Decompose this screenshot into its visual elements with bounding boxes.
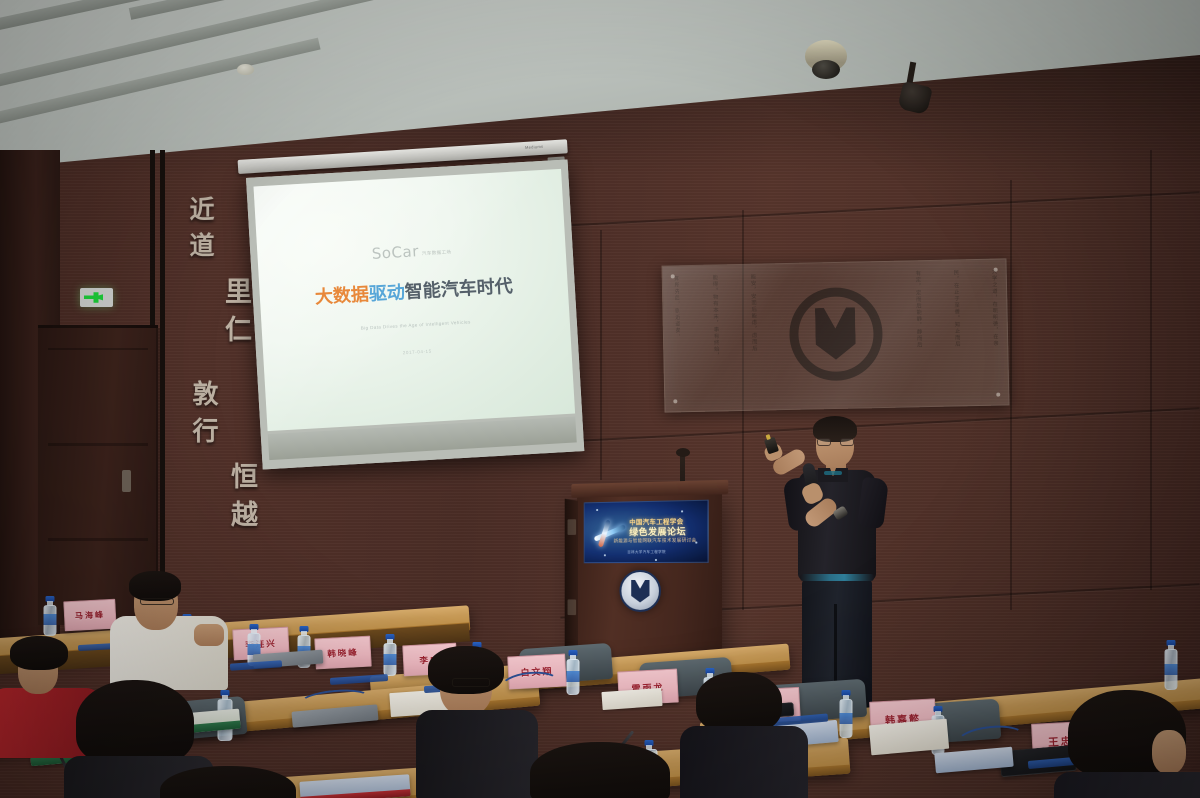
name-placard: 马海峰 [63,599,116,632]
running-man-exit-icon [84,291,109,304]
slide-subtitle: Big Data Drives the Age of Intelligent V… [361,319,471,330]
calligraphy-jindao: 近道 [188,196,213,268]
water-bottle[interactable] [383,634,396,676]
plaque-glass-reflection [663,259,1009,411]
attendee-mid-right [690,672,800,798]
slide-date: 2017-04-15 [403,348,432,355]
conference-hall-photo: 近道 里仁 敦行 恒越 Mediums SoCar 汽车数据工场 大数据驱动智能… [0,0,1200,798]
slide-title: 大数据驱动智能汽车时代 [314,272,513,309]
attendee-body [1054,772,1200,798]
calligraphy-hengyue: 恒越 [228,462,255,538]
plaque-mount-bolt [671,274,675,278]
socar-logo: SoCar 汽车数据工场 [371,240,451,263]
attendee-hair [160,766,296,798]
logo-wordmark: SoCar [371,242,419,263]
water-bottle[interactable] [838,690,853,738]
attendee-hair [696,672,782,734]
wall-seam [1010,180,1012,610]
podium: 中国汽车工程学会 绿色发展论坛 新能源与智能网联汽车技术发展研讨会 吉林大学汽车… [577,490,722,660]
wall-seam [600,230,602,480]
attendee-hair [76,680,194,766]
attendee-far-right [1068,690,1200,798]
slide-title-part3: 智能汽车时代 [404,276,513,303]
door-handle[interactable] [122,470,131,492]
banner-organizer: 吉林大学汽车工程学院 [627,550,666,555]
attendee-body [416,710,538,798]
exit-sign [80,288,113,307]
attendee-hair [129,571,181,601]
slide-title-part2: 驱动 [368,282,405,305]
podium-event-banner: 中国汽车工程学会 绿色发展论坛 新能源与智能网联汽车技术发展研讨会 吉林大学汽车… [584,500,709,564]
placard-name-text: 马海峰 [75,609,106,622]
banner-subtitle: 新能源与智能网联汽车技术发展研讨会 [614,537,697,544]
door-panel-line [48,348,148,350]
presenter-right-sleeve [857,477,889,530]
podium-top-surface [571,480,728,498]
dome-security-camera-icon [805,40,847,72]
eyeglasses-icon [817,438,854,446]
door-panel-line [48,443,148,446]
slide-title-part1: 大数据 [314,284,369,308]
plaque-mount-bolt [994,268,998,272]
presenter-belt [800,574,874,581]
name-placard: 韩晓峰 [314,636,372,670]
calligraphy-dunxing: 敦行 [190,380,216,454]
attendee-white-shirt [110,572,230,682]
attendee-hand [194,624,224,646]
attendee-face [1152,730,1186,774]
water-bottle[interactable] [566,650,580,695]
eyeglasses-icon [140,598,174,605]
logo-subtitle: 汽车数据工场 [422,249,452,260]
attendee-body [680,726,808,798]
water-bottle[interactable] [43,596,56,636]
smoke-detector-icon [237,64,254,75]
attendee-front-center [530,742,670,798]
podium-side-plate [568,599,577,615]
water-bottle[interactable] [1163,640,1178,690]
attendee-center-glasses [424,648,534,798]
eyeglasses-icon [452,678,490,687]
glass-wall-plaque: 知所先后，则近道矣。 能得。物有本末，事有终始， 能安，安而后能虑，虑而后 有定… [661,258,1009,412]
calligraphy-liren: 里仁 [222,277,249,353]
attendee-hair [10,636,68,670]
plaque-mount-bolt [996,393,1000,397]
microphone-head-icon [676,448,690,457]
door-panel-line [48,538,148,541]
projection-screen: SoCar 汽车数据工场 大数据驱动智能汽车时代 Big Data Drives… [246,159,584,469]
podium-crest-icon [619,570,660,612]
presentation-slide: SoCar 汽车数据工场 大数据驱动智能汽车时代 Big Data Drives… [254,169,576,431]
attendee-bottom-left [160,766,300,798]
collar-accent [824,471,842,475]
screen-brand-label: Mediums [525,144,544,150]
banner-title-line2: 绿色发展论坛 [629,524,686,538]
placard-name-text: 韩晓峰 [327,646,359,660]
camera-lens [812,60,840,79]
plaque-mount-bolt [673,399,677,403]
podium-side-plate [568,519,577,535]
wall-seam [1150,150,1152,590]
attendee-hair [530,742,670,798]
